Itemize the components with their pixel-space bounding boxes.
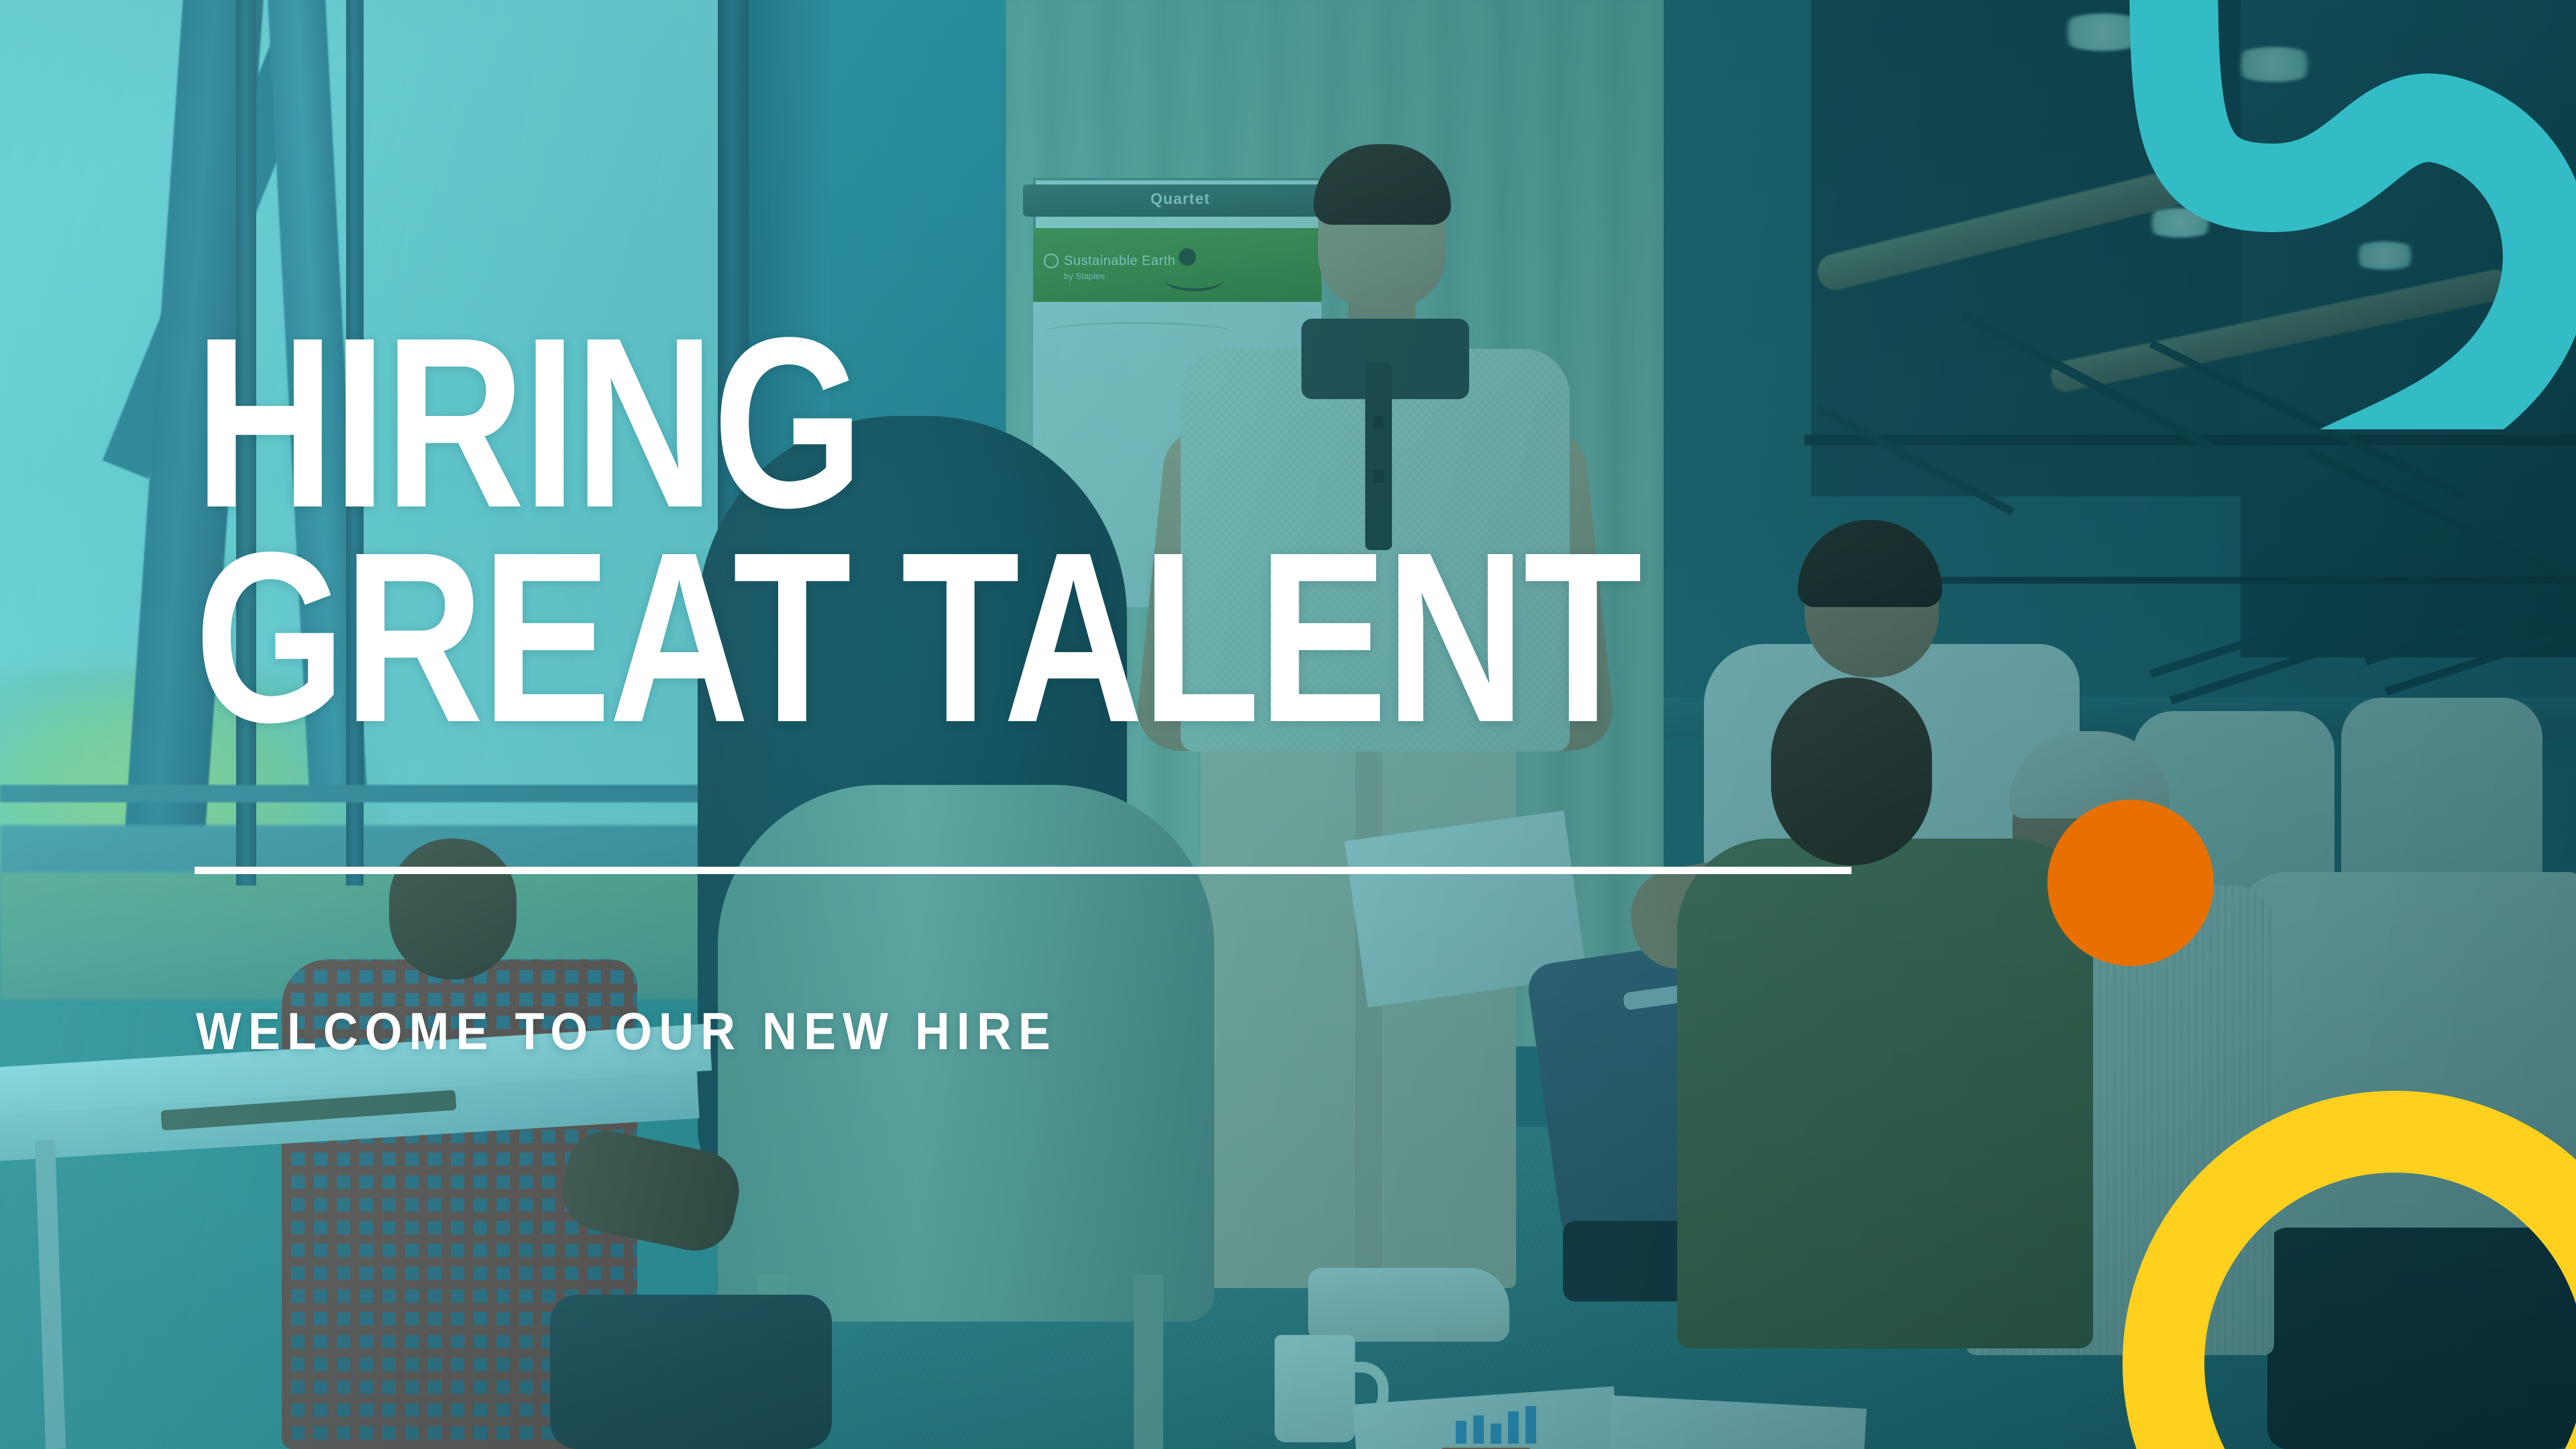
page-title: HIRING GREAT TALENT (195, 315, 1590, 745)
poster-canvas: Sustainable Earth by Staples Quartet (0, 0, 2576, 1449)
headline-block: HIRING GREAT TALENT (195, 315, 1939, 745)
subtitle: WELCOME TO OUR NEW HIRE (196, 1001, 1057, 1062)
teal-squiggle-icon (2073, 0, 2576, 429)
orange-circle-shape (2047, 800, 2214, 966)
headline-line-2: GREAT TALENT (195, 530, 1590, 745)
yellow-ring-arc-icon (2093, 1061, 2576, 1449)
divider-rule (195, 867, 1851, 874)
